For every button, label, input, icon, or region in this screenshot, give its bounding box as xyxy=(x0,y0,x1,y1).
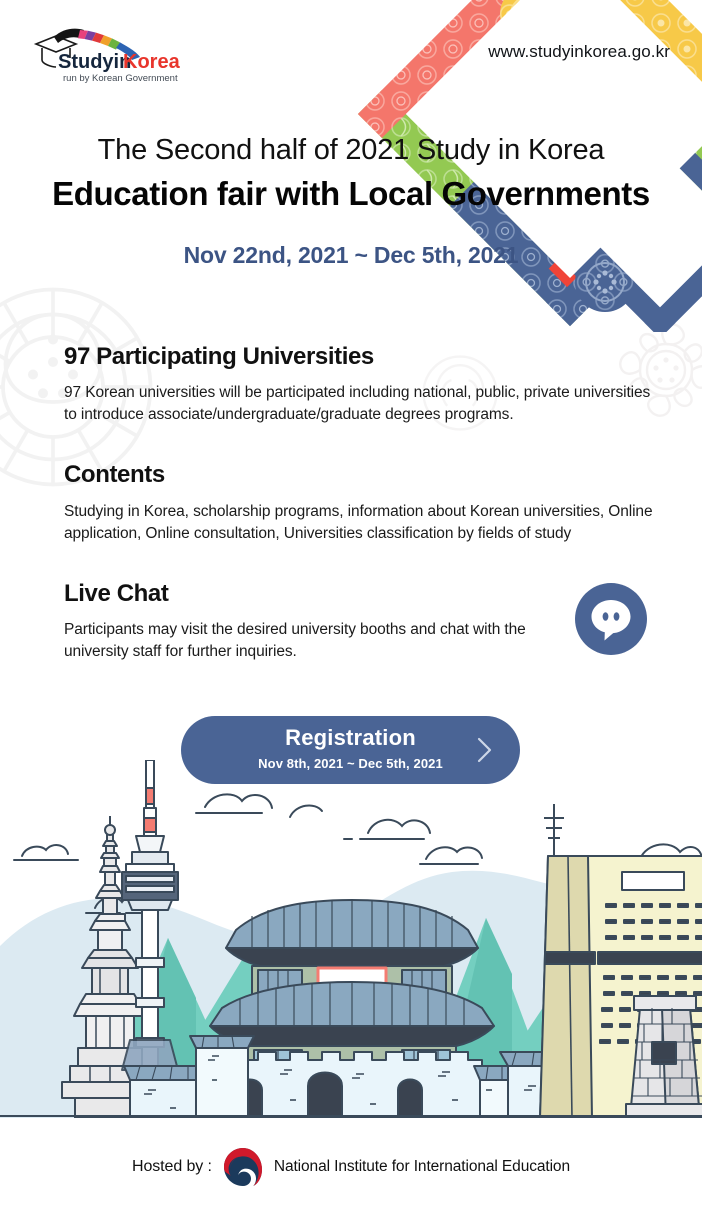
section-title-contents: Contents xyxy=(64,460,664,489)
logo-wordmark-studyin: Studyin xyxy=(58,51,131,73)
registration-label: Registration xyxy=(181,725,520,751)
poster-root: Studyin Korea run by Korean Government w… xyxy=(0,0,702,1209)
content-sections: 97 Participating Universities 97 Korean … xyxy=(64,342,664,663)
section-live-chat: Live Chat Participants may visit the des… xyxy=(64,579,664,663)
section-universities: 97 Participating Universities 97 Korean … xyxy=(64,342,664,426)
organization-name: National Institute for International Edu… xyxy=(274,1158,570,1176)
chat-bubble-icon[interactable] xyxy=(575,583,647,655)
section-body-universities: 97 Korean universities will be participa… xyxy=(64,382,664,426)
headline-line-1: The Second half of 2021 Study in Korea xyxy=(0,133,702,167)
hosted-by-label: Hosted by : xyxy=(132,1158,212,1176)
section-title-live-chat: Live Chat xyxy=(64,579,664,608)
section-body-live-chat: Participants may visit the desired unive… xyxy=(64,619,534,663)
headline-line-2: Education fair with Local Governments xyxy=(0,173,702,214)
event-dates: Nov 22nd, 2021 ~ Dec 5th, 2021 xyxy=(0,242,702,269)
site-url[interactable]: www.studyinkorea.go.kr xyxy=(488,42,670,62)
section-title-universities: 97 Participating Universities xyxy=(64,342,664,371)
footer: Hosted by : National Institute for Inter… xyxy=(0,1146,702,1188)
logo-tagline: run by Korean Government xyxy=(63,73,178,84)
registration-button[interactable]: Registration Nov 8th, 2021 ~ Dec 5th, 20… xyxy=(181,716,520,784)
section-body-contents: Studying in Korea, scholarship programs,… xyxy=(64,501,664,545)
registration-period: Nov 8th, 2021 ~ Dec 5th, 2021 xyxy=(181,756,520,771)
korea-cityscape-illustration xyxy=(0,760,702,1118)
logo-wordmark-korea: Korea xyxy=(123,51,181,73)
niied-logo xyxy=(222,1146,264,1188)
chevron-right-icon xyxy=(476,736,494,764)
section-contents: Contents Studying in Korea, scholarship … xyxy=(64,460,664,544)
studyinkorea-logo: Studyin Korea run by Korean Government xyxy=(30,24,200,86)
headline-block: The Second half of 2021 Study in Korea E… xyxy=(0,133,702,269)
